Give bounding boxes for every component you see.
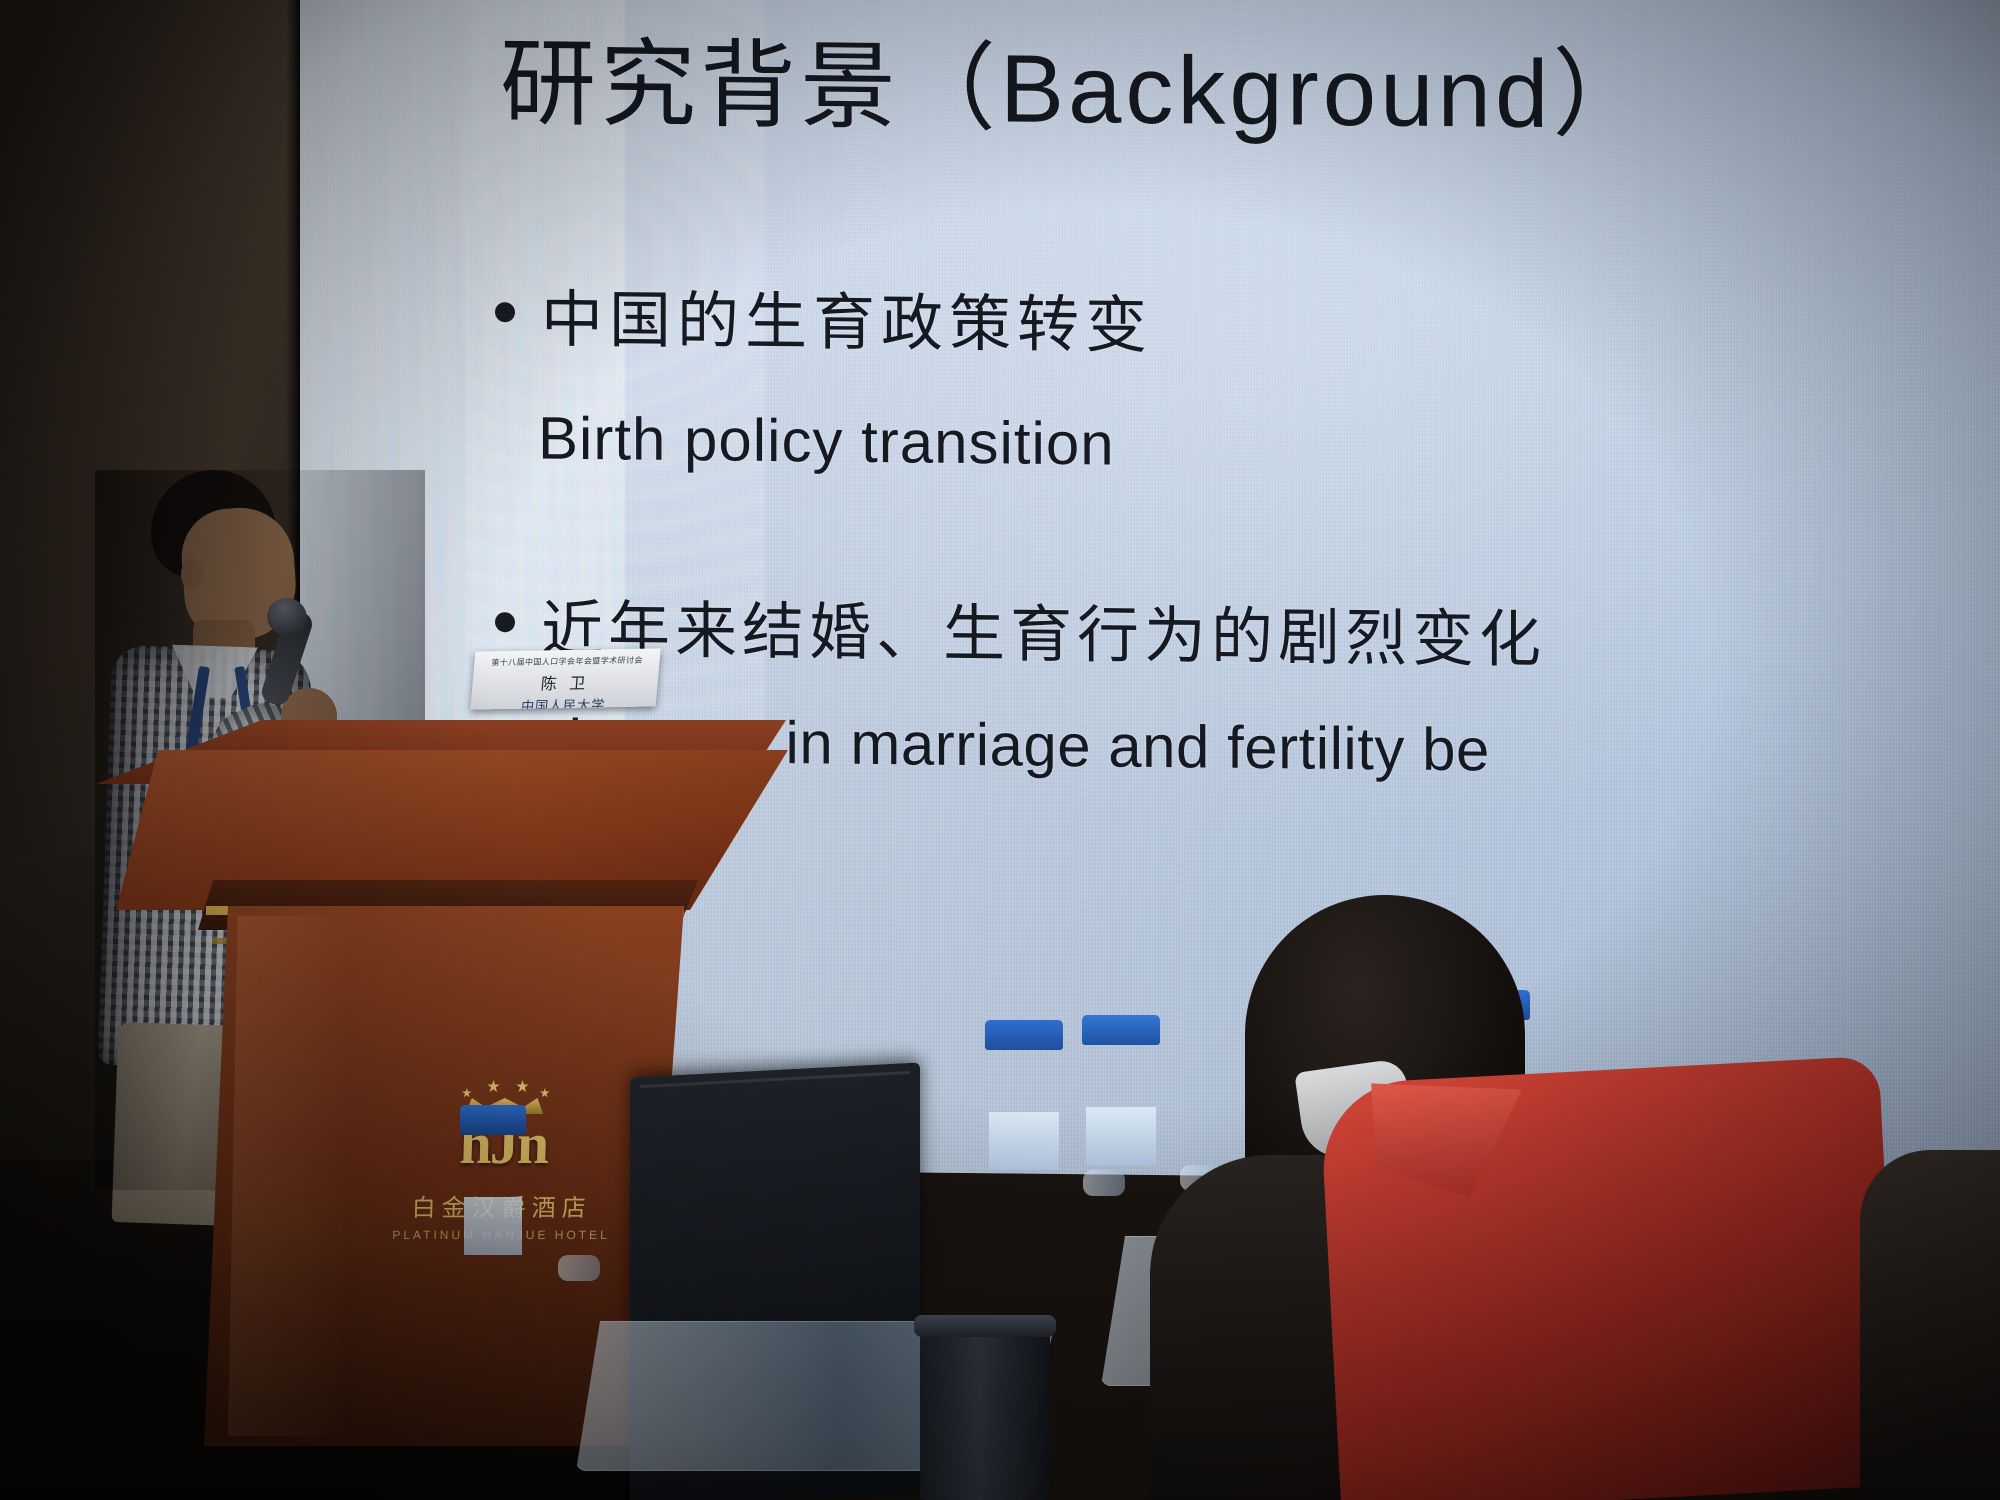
water-bottle [985, 1020, 1063, 1050]
bullet-2-chinese-text: 近年来结婚、生育行为的剧烈变化 [541, 579, 1546, 680]
bottle-neck [558, 1255, 600, 1281]
audience-member-right [1860, 1150, 2000, 1500]
star-icon [462, 1088, 472, 1098]
nameplate-affiliation: 中国人民大学 [478, 694, 649, 710]
bottle-cap [460, 1105, 526, 1135]
water-bottle [460, 1105, 526, 1135]
star-icon [540, 1088, 550, 1098]
presenter-ear [181, 558, 203, 590]
bullet-item-1: 中国的生育政策转变 [495, 268, 1153, 365]
bottle-cap [985, 1020, 1063, 1050]
bottle-neck [1083, 1170, 1125, 1196]
bottle-label [1086, 1107, 1156, 1165]
slide-title: 研究背景（Background） [500, 5, 1800, 158]
star-icon [487, 1080, 500, 1093]
bottle-label [464, 1197, 522, 1255]
kettle-lid [914, 1315, 1056, 1337]
speaker-nameplate: 第十八届中国人口学会年会暨学术研讨会 陈 卫 中国人民大学 [470, 648, 660, 709]
bullet-1-english-text: Birth policy transition [538, 404, 1115, 479]
bullet-dot-icon [495, 612, 515, 632]
bullet-1-chinese-text: 中国的生育政策转变 [541, 269, 1153, 365]
water-bottle [1082, 1015, 1160, 1045]
conference-photo-scene: 研究背景（Background） 中国的生育政策转变 Birth policy … [0, 0, 2000, 1500]
star-icon [516, 1080, 529, 1093]
nameplate-conference-line: 第十八届中国人口学会年会暨学术研讨会 [482, 655, 652, 669]
bottle-cap [1082, 1015, 1160, 1045]
bottle-label [989, 1112, 1059, 1170]
thermos-kettle [920, 1325, 1050, 1500]
nameplate-speaker-name: 陈 卫 [480, 669, 651, 696]
bullet-dot-icon [495, 302, 515, 322]
podium-highlight [228, 916, 348, 1436]
